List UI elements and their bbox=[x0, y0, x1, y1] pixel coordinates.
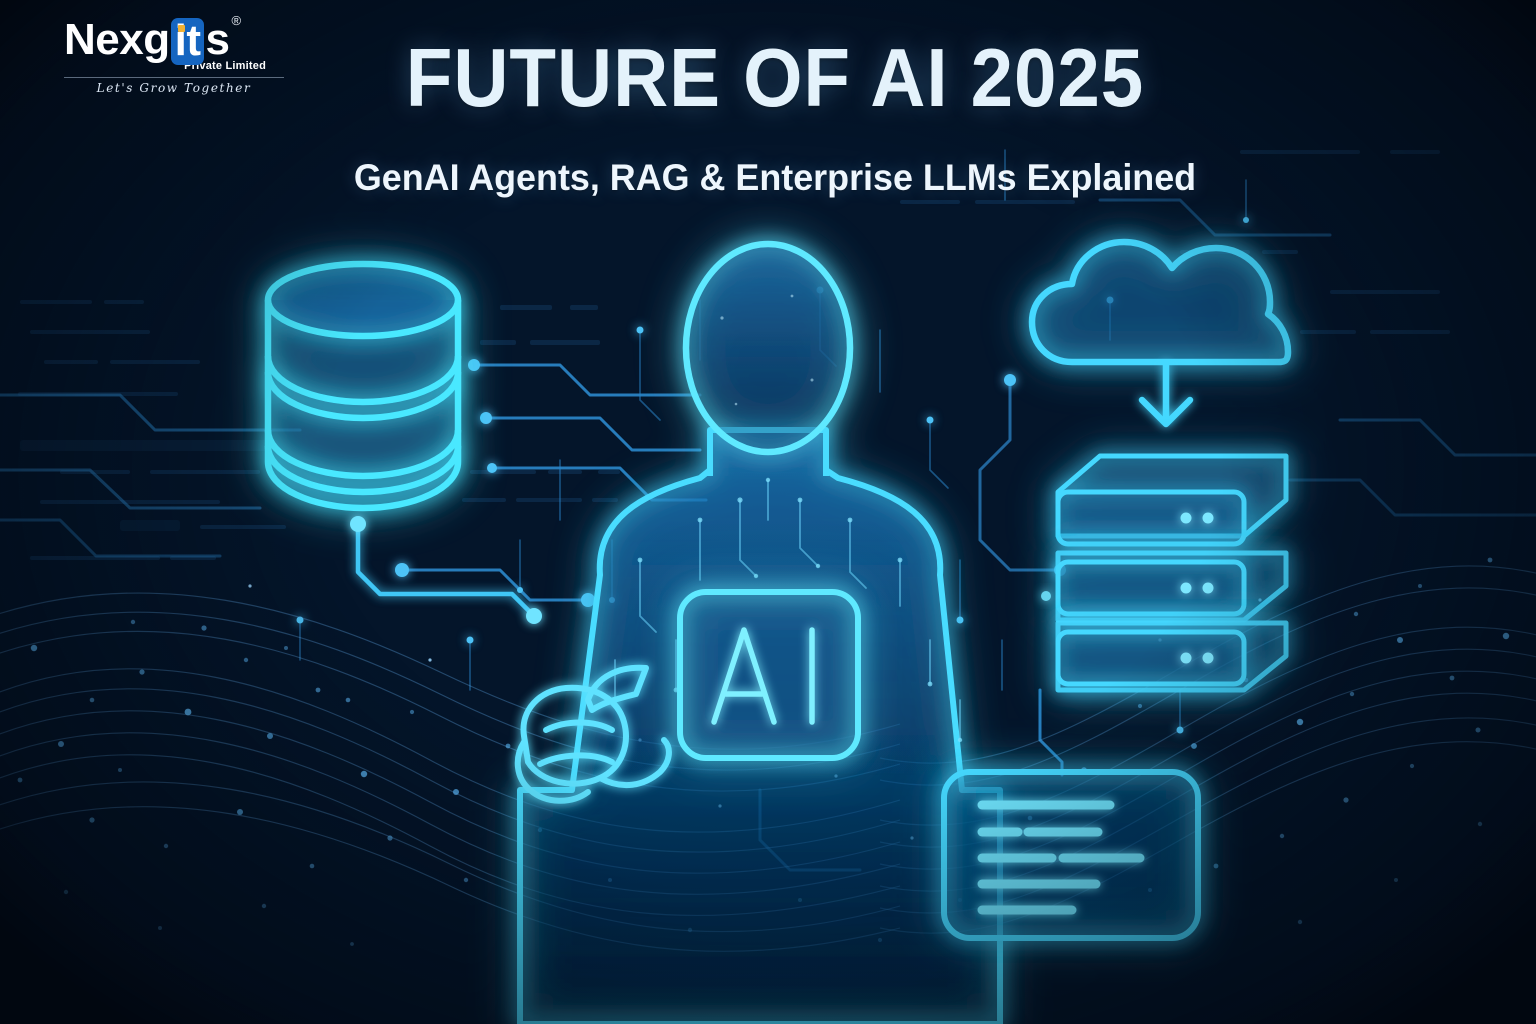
poster-canvas: Nexgits® Private Limited Let's Grow Toge… bbox=[0, 0, 1536, 1024]
page-title: FUTURE OF AI 2025 bbox=[329, 36, 1221, 121]
registered-trademark-icon: ® bbox=[231, 14, 240, 27]
page-subtitle: GenAI Agents, RAG & Enterprise LLMs Expl… bbox=[305, 158, 1246, 199]
logo-it-text: it bbox=[175, 16, 201, 65]
brand-logo[interactable]: Nexgits® Private Limited Let's Grow Toge… bbox=[64, 18, 284, 95]
document-panel-icon bbox=[0, 0, 1536, 1024]
logo-tagline: Let's Grow Together bbox=[64, 81, 284, 95]
logo-text-prefix: Nexg bbox=[64, 18, 170, 62]
logo-text-suffix: s bbox=[205, 18, 229, 62]
logo-wordmark: Nexgits® bbox=[64, 18, 284, 65]
logo-it-badge: it bbox=[171, 18, 205, 65]
logo-dot-accent bbox=[178, 25, 185, 32]
logo-divider bbox=[64, 77, 284, 78]
